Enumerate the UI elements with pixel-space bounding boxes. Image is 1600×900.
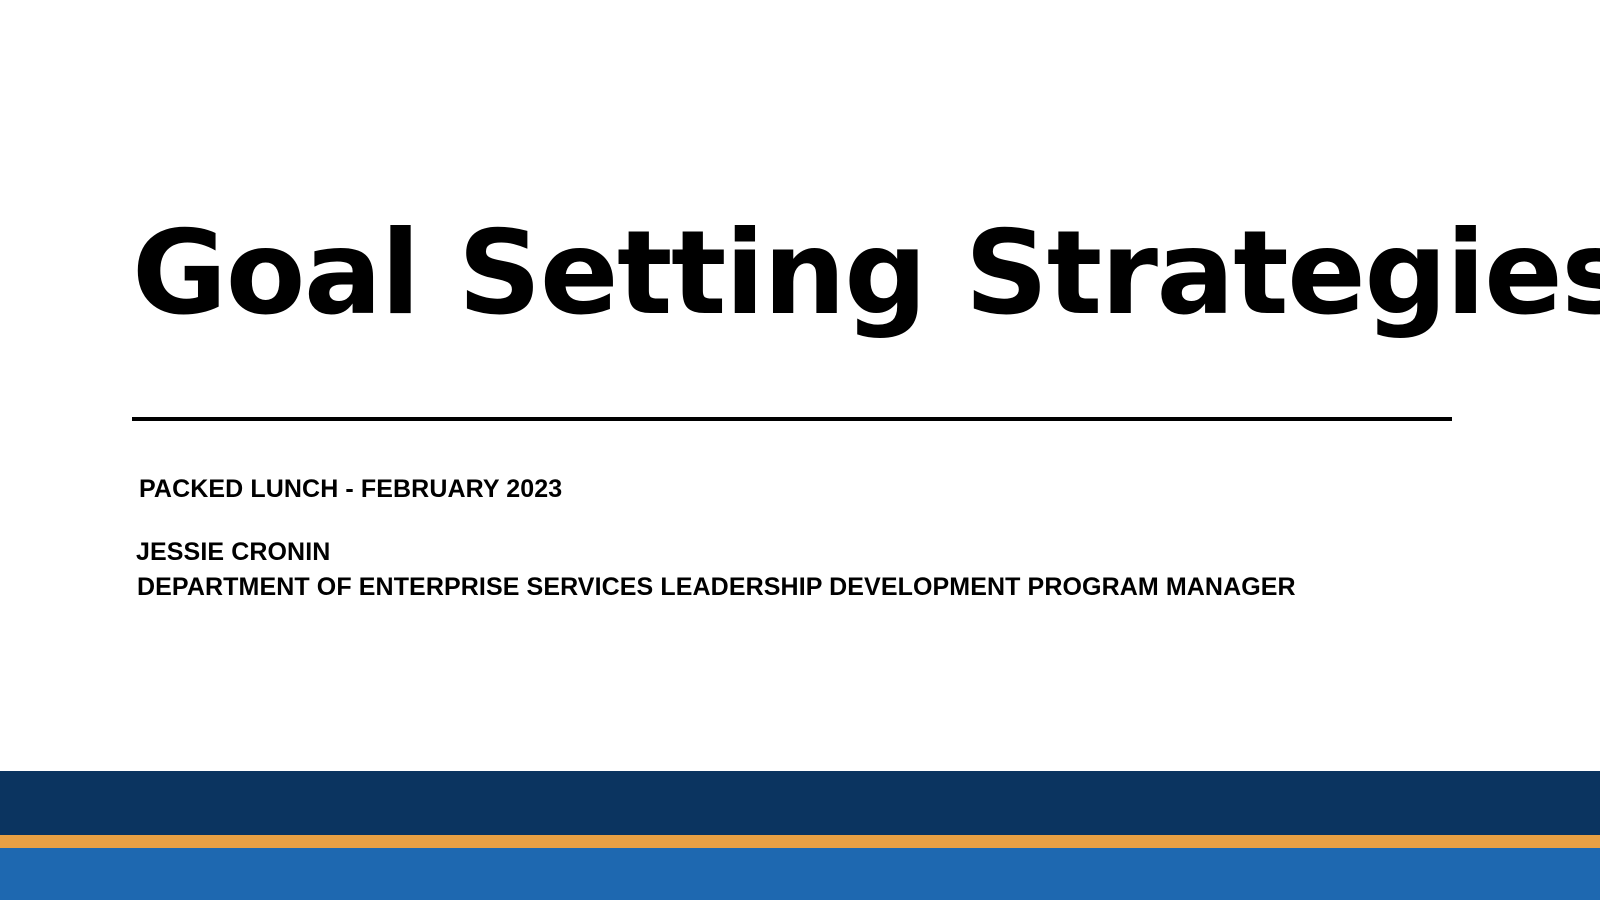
footer-band-blue <box>0 848 1600 900</box>
subtitle-block: PACKED LUNCH - FEBRUARY 2023 JESSIE CRON… <box>136 474 1456 605</box>
title-divider <box>132 417 1452 421</box>
title-block: Goal Setting Strategies <box>132 216 1462 332</box>
presenter-group: JESSIE CRONIN DEPARTMENT OF ENTERPRISE S… <box>136 535 1456 605</box>
presenter-name: JESSIE CRONIN <box>136 535 1456 570</box>
presenter-role: DEPARTMENT OF ENTERPRISE SERVICES LEADER… <box>137 570 1456 605</box>
title-slide: Goal Setting Strategies PACKED LUNCH - F… <box>0 0 1600 900</box>
footer-band-orange <box>0 835 1600 848</box>
page-title: Goal Setting Strategies <box>132 216 1462 332</box>
footer-band-navy <box>0 771 1600 835</box>
event-subtitle: PACKED LUNCH - FEBRUARY 2023 <box>139 474 1456 505</box>
